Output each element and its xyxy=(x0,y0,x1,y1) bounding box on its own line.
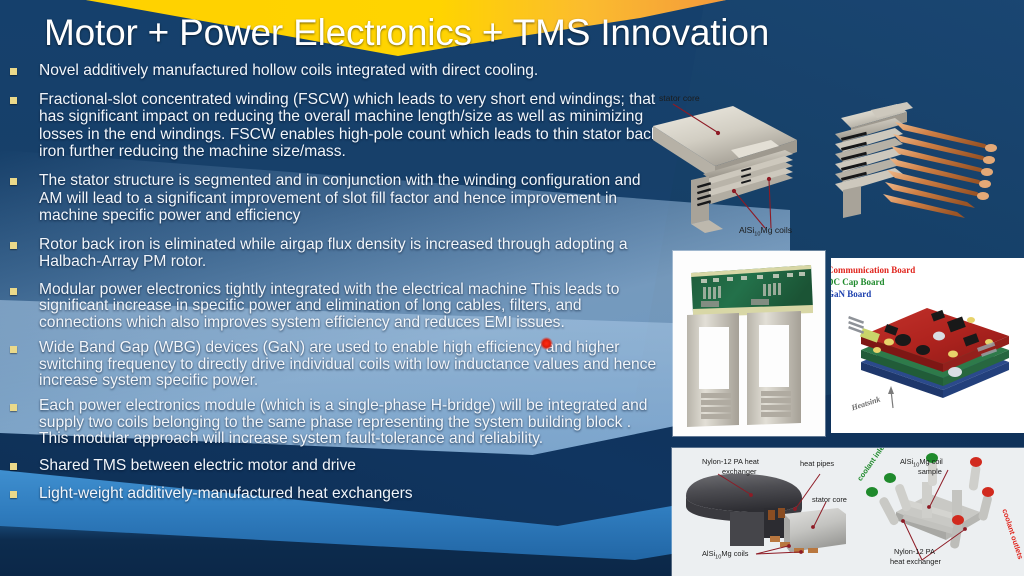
list-item: Novel additively manufactured hollow coi… xyxy=(0,62,668,80)
list-item: Modular power electronics tightly integr… xyxy=(0,282,668,331)
bullet-marker-icon xyxy=(10,346,17,353)
nylon-heat-exchanger-label2-line1: Nylon-12 PA xyxy=(894,548,935,557)
stator-core-label-bottom: stator core xyxy=(812,496,847,505)
mouse-cursor-highlight xyxy=(540,337,553,350)
coil-stack-figure xyxy=(673,251,825,436)
heat-pipes-label: heat pipes xyxy=(800,460,834,469)
bullet-text: Light-weight additively-manufactured hea… xyxy=(39,485,413,503)
alsi10mg-coil-sample-label-line2: sample xyxy=(918,468,942,477)
list-item: Wide Band Gap (WBG) devices (GaN) are us… xyxy=(0,340,668,389)
alsi10mg-coils-label: AlSi10Mg coils xyxy=(739,226,792,239)
bullet-marker-icon xyxy=(10,178,17,185)
bullet-text: Rotor back iron is eliminated while airg… xyxy=(39,236,659,271)
bullet-marker-icon xyxy=(10,68,17,75)
coil-stack-illustration xyxy=(673,251,825,436)
nylon-heat-exchanger-label2-line2: heat exchanger xyxy=(890,558,941,567)
stator-core-figure: stator core AlSi10Mg coils xyxy=(645,88,1024,248)
alsi-prefix: AlSi xyxy=(900,457,913,466)
bullet-marker-icon xyxy=(10,242,17,249)
bullet-text: The stator structure is segmented and in… xyxy=(39,172,659,225)
list-item: Light-weight additively-manufactured hea… xyxy=(0,485,668,503)
nylon-heat-exchanger-label-line1: Nylon-12 PA heat xyxy=(702,458,759,467)
stator-core-label: stator core xyxy=(659,94,700,103)
list-item: Each power electronics module (which is … xyxy=(0,398,668,447)
list-item: Fractional-slot concentrated winding (FS… xyxy=(0,91,668,161)
alsi-suffix: Mg coil xyxy=(919,457,942,466)
bullet-list: Novel additively manufactured hollow coi… xyxy=(0,62,668,509)
alsi-prefix: AlSi xyxy=(739,225,754,235)
bullet-text: Fractional-slot concentrated winding (FS… xyxy=(39,91,659,161)
title-banner: Motor + Power Electronics + TMS Innovati… xyxy=(0,0,1024,70)
bullet-text: Each power electronics module (which is … xyxy=(39,398,659,447)
heat-exchanger-figure: Nylon-12 PA heat exchanger heat pipes st… xyxy=(672,448,1024,576)
power-electronics-board-figure: Communication Board DC Cap Board GaN Boa… xyxy=(831,258,1024,433)
nylon-heat-exchanger-label-line2: exchanger xyxy=(722,468,757,477)
bullet-marker-icon xyxy=(10,404,17,411)
bullet-marker-icon xyxy=(10,97,17,104)
list-item: The stator structure is segmented and in… xyxy=(0,172,668,225)
bullet-text: Shared TMS between electric motor and dr… xyxy=(39,457,356,475)
bullet-text: Novel additively manufactured hollow coi… xyxy=(39,62,538,80)
alsi-suffix: Mg coils xyxy=(721,549,748,558)
bullet-text: Wide Band Gap (WBG) devices (GaN) are us… xyxy=(39,340,659,389)
alsi-suffix: Mg coils xyxy=(761,225,793,235)
list-item: Shared TMS between electric motor and dr… xyxy=(0,457,668,475)
gan-board-label: GaN Board xyxy=(831,289,871,300)
dc-cap-board-label: DC Cap Board xyxy=(831,277,885,288)
alsi-prefix: AlSi xyxy=(702,549,715,558)
bullet-marker-icon xyxy=(10,288,17,295)
page-title: Motor + Power Electronics + TMS Innovati… xyxy=(44,13,769,53)
list-item: Rotor back iron is eliminated while airg… xyxy=(0,236,668,271)
bullet-text: Modular power electronics tightly integr… xyxy=(39,282,659,331)
bullet-marker-icon xyxy=(10,491,17,498)
communication-board-label: Communication Board xyxy=(831,265,915,276)
alsi10mg-coils-label-bottom: AlSi10Mg coils xyxy=(702,550,749,562)
bullet-marker-icon xyxy=(10,463,17,470)
stator-core-illustration xyxy=(645,88,1024,248)
presentation-slide: Motor + Power Electronics + TMS Innovati… xyxy=(0,0,1024,576)
